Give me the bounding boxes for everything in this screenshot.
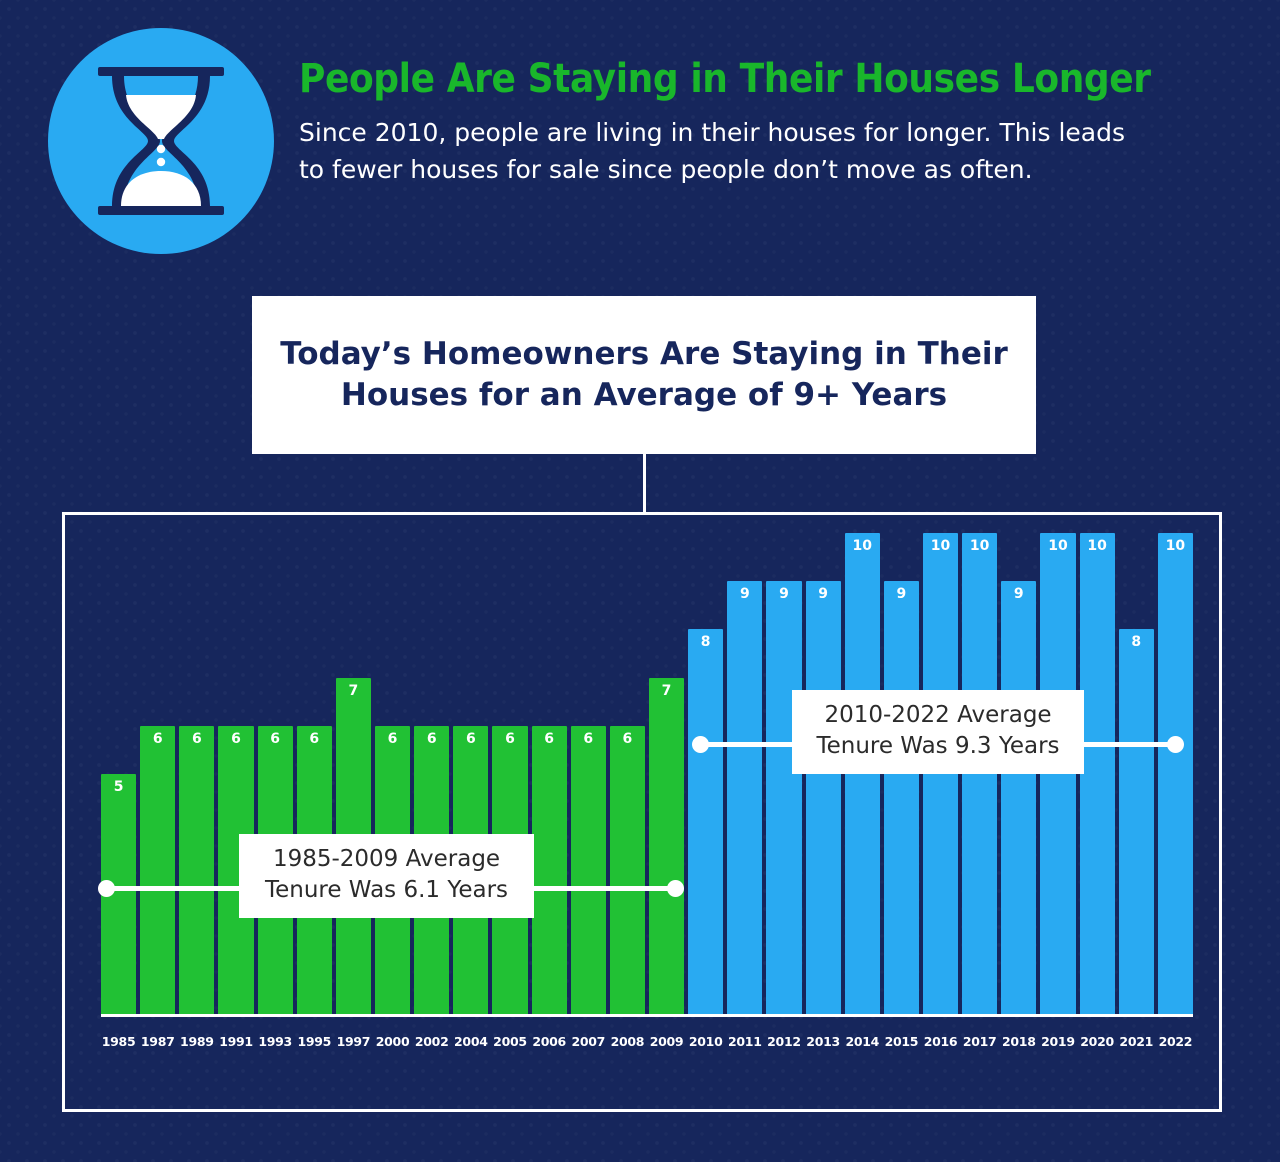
bar-value-label: 6 (492, 732, 527, 746)
kicker-line-1: Today’s Homeowners Are Staying in Their (280, 334, 1008, 375)
bar-value-label: 9 (766, 587, 801, 601)
x-axis-tick-1995: 1995 (297, 1034, 332, 1049)
header: People Are Staying in Their Houses Longe… (0, 0, 1280, 272)
bar-value-label: 9 (727, 587, 762, 601)
x-axis-tick-2021: 2021 (1119, 1034, 1154, 1049)
bar-value-label: 10 (962, 539, 997, 553)
annotation-green-average: 1985-2009 Average Tenure Was 6.1 Years (98, 866, 684, 976)
x-axis-tick-2017: 2017 (962, 1034, 997, 1049)
bar-value-label: 9 (806, 587, 841, 601)
bar-value-label: 6 (297, 732, 332, 746)
page-title: People Are Staying in Their Houses Longe… (299, 58, 1249, 100)
x-axis-tick-2000: 2000 (375, 1034, 410, 1049)
x-axis-line (101, 1014, 1193, 1017)
x-axis-tick-2020: 2020 (1080, 1034, 1115, 1049)
annotation-blue-line-2: Tenure Was 9.3 Years (810, 731, 1066, 762)
x-axis-tick-2014: 2014 (845, 1034, 880, 1049)
annotation-endpoint-left (98, 880, 115, 897)
page-subtitle: Since 2010, people are living in their h… (299, 114, 1249, 188)
x-axis-tick-2006: 2006 (532, 1034, 567, 1049)
annotation-endpoint-right (667, 880, 684, 897)
bar-value-label: 6 (258, 732, 293, 746)
x-axis-tick-2019: 2019 (1040, 1034, 1075, 1049)
x-axis-tick-2010: 2010 (688, 1034, 723, 1049)
x-axis-tick-2022: 2022 (1158, 1034, 1193, 1049)
bar-value-label: 10 (1158, 539, 1193, 553)
kicker-line-2: Houses for an Average of 9+ Years (341, 375, 947, 416)
bar-value-label: 6 (610, 732, 645, 746)
annotation-endpoint-right (1167, 736, 1184, 753)
hourglass-icon (48, 28, 274, 254)
x-axis-tick-2002: 2002 (414, 1034, 449, 1049)
x-axis-tick-2008: 2008 (610, 1034, 645, 1049)
bar-value-label: 6 (571, 732, 606, 746)
subtitle-line-1: Since 2010, people are living in their h… (299, 114, 1249, 151)
kicker-callout-box: Today’s Homeowners Are Staying in Their … (252, 296, 1036, 454)
x-axis-labels: 1985198719891991199319951997200020022004… (101, 1034, 1193, 1049)
bar-value-label: 6 (375, 732, 410, 746)
x-axis-tick-1987: 1987 (140, 1034, 175, 1049)
bar-value-label: 10 (845, 539, 880, 553)
bar-value-label: 10 (1040, 539, 1075, 553)
annotation-endpoint-left (692, 736, 709, 753)
annotation-blue-average: 2010-2022 Average Tenure Was 9.3 Years (692, 722, 1184, 832)
bar-value-label: 6 (179, 732, 214, 746)
bar-value-label: 10 (1080, 539, 1115, 553)
x-axis-tick-2007: 2007 (571, 1034, 606, 1049)
kicker-connector-line (643, 454, 646, 514)
bar-value-label: 6 (140, 732, 175, 746)
annotation-blue-line-1: 2010-2022 Average (810, 700, 1066, 731)
x-axis-tick-2016: 2016 (923, 1034, 958, 1049)
subtitle-line-2: to fewer houses for sale since people do… (299, 151, 1249, 188)
x-axis-tick-1997: 1997 (336, 1034, 371, 1049)
header-text-block: People Are Staying in Their Houses Longe… (299, 58, 1249, 188)
x-axis-tick-2009: 2009 (649, 1034, 684, 1049)
x-axis-tick-2011: 2011 (727, 1034, 762, 1049)
bar-value-label: 9 (1001, 587, 1036, 601)
bar-value-label: 6 (414, 732, 449, 746)
bar-value-label: 8 (1119, 635, 1154, 649)
x-axis-tick-1989: 1989 (179, 1034, 214, 1049)
bar-value-label: 5 (101, 780, 136, 794)
x-axis-tick-2015: 2015 (884, 1034, 919, 1049)
annotation-green-line-1: 1985-2009 Average (257, 844, 516, 875)
bar-value-label: 6 (218, 732, 253, 746)
bar-value-label: 10 (923, 539, 958, 553)
annotation-label-blue: 2010-2022 Average Tenure Was 9.3 Years (792, 690, 1084, 774)
x-axis-tick-2013: 2013 (806, 1034, 841, 1049)
bar-value-label: 6 (532, 732, 567, 746)
x-axis-tick-2018: 2018 (1001, 1034, 1036, 1049)
x-axis-tick-1985: 1985 (101, 1034, 136, 1049)
x-axis-tick-1991: 1991 (218, 1034, 253, 1049)
annotation-label-green: 1985-2009 Average Tenure Was 6.1 Years (239, 834, 534, 918)
bar-value-label: 9 (884, 587, 919, 601)
x-axis-tick-2005: 2005 (492, 1034, 527, 1049)
x-axis-tick-2012: 2012 (766, 1034, 801, 1049)
bar-value-label: 7 (649, 684, 684, 698)
bar-value-label: 8 (688, 635, 723, 649)
x-axis-tick-2004: 2004 (453, 1034, 488, 1049)
x-axis-tick-1993: 1993 (258, 1034, 293, 1049)
bar-value-label: 6 (453, 732, 488, 746)
bar-value-label: 7 (336, 684, 371, 698)
annotation-green-line-2: Tenure Was 6.1 Years (257, 875, 516, 906)
